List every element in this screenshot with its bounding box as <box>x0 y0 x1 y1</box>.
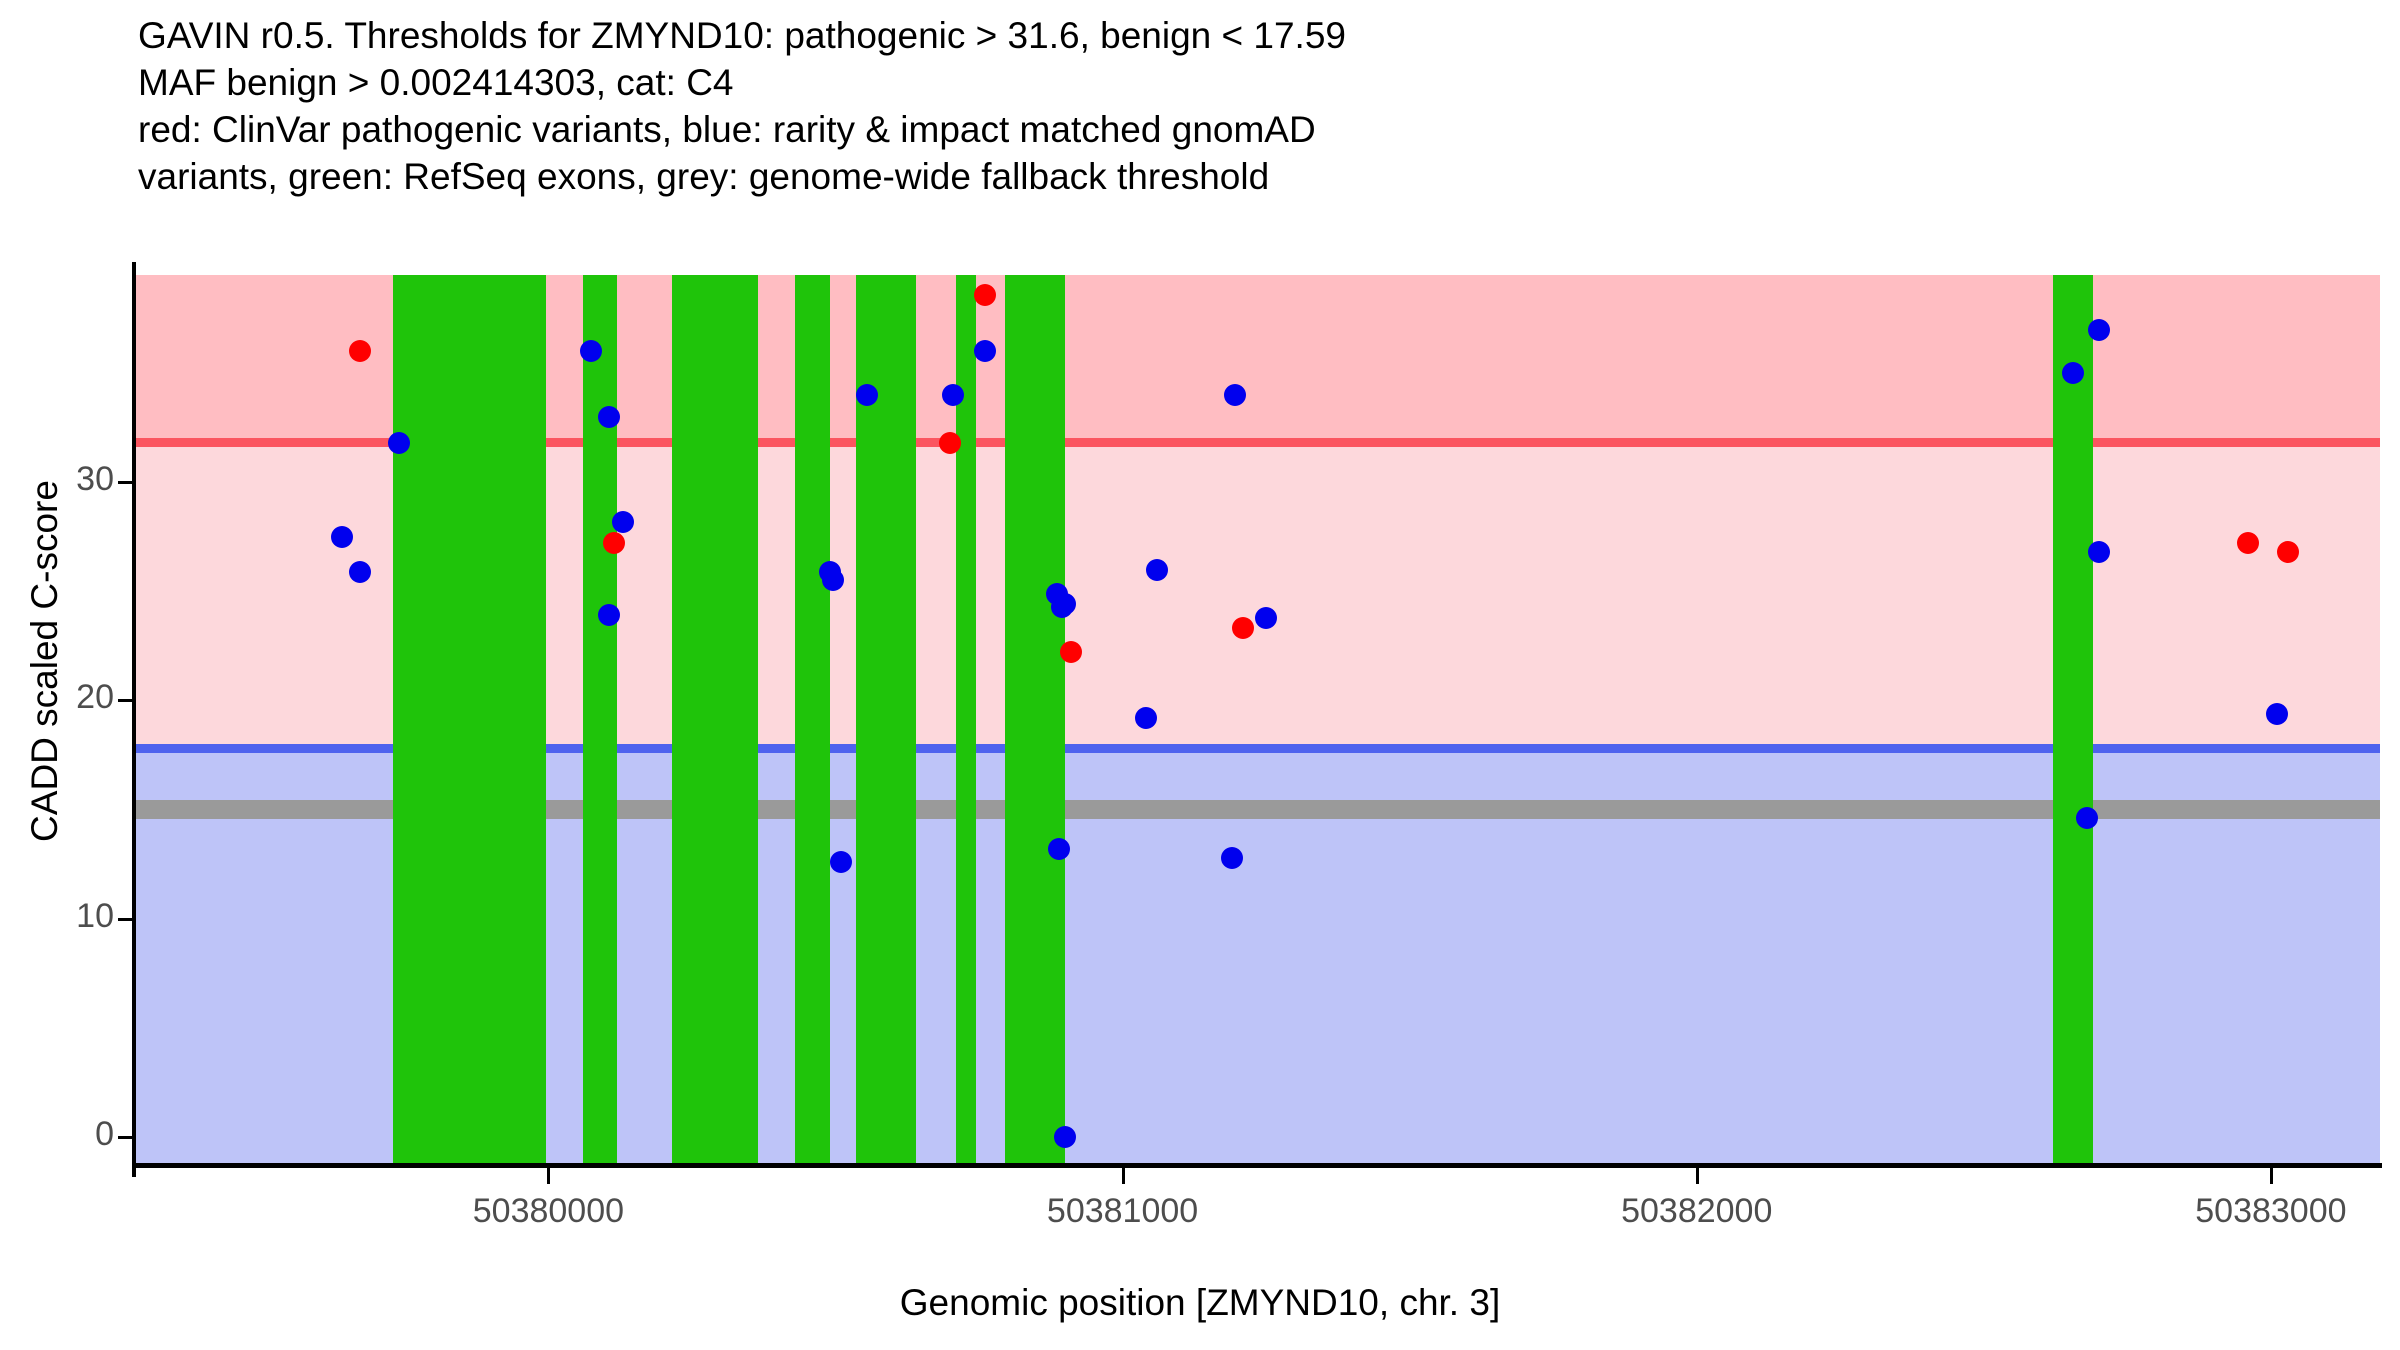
x-tick-label: 50382000 <box>1547 1192 1847 1231</box>
gnomad-matched-point <box>612 511 634 533</box>
y-tick-mark <box>118 1136 132 1139</box>
y-tick-mark <box>118 918 132 921</box>
gnomad-matched-point <box>1146 559 1168 581</box>
x-tick-label: 50383000 <box>2121 1192 2400 1231</box>
x-axis-title: Genomic position [ZMYND10, chr. 3] <box>0 1282 2400 1324</box>
exon-bar <box>1005 275 1065 1163</box>
gnomad-matched-point <box>2088 319 2110 341</box>
exon-bar <box>672 275 758 1163</box>
gnomad-matched-point <box>830 851 852 873</box>
gnomad-matched-point <box>1224 384 1246 406</box>
x-tick-label: 50381000 <box>973 1192 1273 1231</box>
exon-bar <box>2053 275 2093 1163</box>
x-tick-mark <box>1696 1168 1699 1184</box>
plot-panel <box>135 275 2380 1163</box>
gnomad-matched-point <box>598 406 620 428</box>
gnomad-matched-point <box>1054 1126 1076 1148</box>
exon-bar <box>856 275 916 1163</box>
y-axis-title: CADD scaled C-score <box>10 0 56 1350</box>
gnomad-matched-point <box>974 340 996 362</box>
gnomad-matched-point <box>1135 707 1157 729</box>
exon-bar <box>393 275 545 1163</box>
y-tick-mark <box>118 481 132 484</box>
plot-title: GAVIN r0.5. Thresholds for ZMYND10: path… <box>138 12 2378 200</box>
clinvar-pathogenic-point <box>974 284 996 306</box>
x-axis-line <box>132 1163 2382 1168</box>
y-tick-mark <box>118 699 132 702</box>
gnomad-matched-point <box>1221 847 1243 869</box>
gnomad-matched-point <box>349 561 371 583</box>
gnomad-matched-point <box>2062 362 2084 384</box>
gnomad-matched-point <box>856 384 878 406</box>
gnomad-matched-point <box>822 569 844 591</box>
exon-bar <box>795 275 829 1163</box>
gnomad-matched-point <box>1255 607 1277 629</box>
title-line-1: GAVIN r0.5. Thresholds for ZMYND10: path… <box>138 12 2378 59</box>
gnomad-matched-point <box>2088 541 2110 563</box>
gnomad-matched-point <box>598 604 620 626</box>
y-axis-title-text: CADD scaled C-score <box>24 361 66 961</box>
x-tick-mark <box>1122 1168 1125 1184</box>
title-line-2: MAF benign > 0.002414303, cat: C4 <box>138 59 2378 106</box>
x-tick-mark <box>547 1168 550 1184</box>
title-line-3: red: ClinVar pathogenic variants, blue: … <box>138 106 2378 153</box>
y-axis-line <box>132 262 136 1177</box>
title-line-4: variants, green: RefSeq exons, grey: gen… <box>138 153 2378 200</box>
gnomad-matched-point <box>388 432 410 454</box>
gnomad-matched-point <box>331 526 353 548</box>
gnomad-matched-point <box>1051 596 1073 618</box>
plot-root: GAVIN r0.5. Thresholds for ZMYND10: path… <box>0 0 2400 1350</box>
gnomad-matched-point <box>2266 703 2288 725</box>
x-tick-mark <box>2270 1168 2273 1184</box>
x-tick-label: 50380000 <box>398 1192 698 1231</box>
exon-bar <box>956 275 976 1163</box>
